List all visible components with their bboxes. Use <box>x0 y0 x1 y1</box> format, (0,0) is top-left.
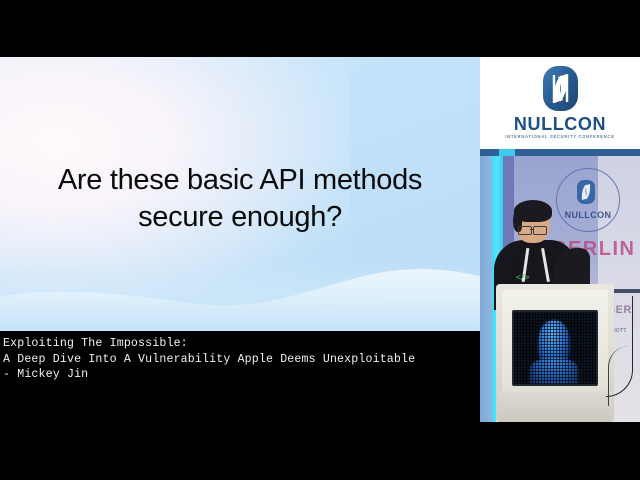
video-player-stage: Are these basic API methods secure enoug… <box>0 0 640 480</box>
backdrop-nullcon-n-icon <box>577 180 595 204</box>
nullcon-wordmark: NULLCON <box>480 114 640 135</box>
letterbox-bottom <box>0 422 640 480</box>
led-matrix-display <box>514 312 596 384</box>
slide-background-bottom-fade <box>0 261 480 331</box>
slide-title: Are these basic API methods secure enoug… <box>0 162 480 236</box>
nullcon-underline-bar <box>480 149 640 156</box>
speaker-glasses-right <box>533 226 547 235</box>
right-column: NULLCON INTERNATIONAL SECURITY CONFERENC… <box>480 57 640 422</box>
nullcon-logo-panel: NULLCON INTERNATIONAL SECURITY CONFERENC… <box>480 57 640 156</box>
microphone-cable-secondary <box>608 346 629 406</box>
caption-bar: Exploiting The Impossible: A Deep Dive I… <box>0 331 480 422</box>
backdrop-nullcon-text: NULLCON <box>550 210 626 220</box>
letterbox-top <box>0 0 640 57</box>
speaker-glasses-left <box>518 226 532 235</box>
speaker-glasses-bridge <box>530 229 533 230</box>
backdrop-wall-left <box>480 156 492 422</box>
nullcon-n-mark-icon <box>542 65 579 112</box>
led-pixel-grid <box>514 312 596 384</box>
speaker-video-panel: NULLCON BERLIN 25 EMBER MARRIOTT </> <box>480 156 640 422</box>
talk-title-caption: Exploiting The Impossible: A Deep Dive I… <box>3 336 477 383</box>
presentation-slide: Are these basic API methods secure enoug… <box>0 57 480 331</box>
podium-base <box>498 392 612 422</box>
nullcon-tagline: INTERNATIONAL SECURITY CONFERENCE <box>480 134 640 139</box>
